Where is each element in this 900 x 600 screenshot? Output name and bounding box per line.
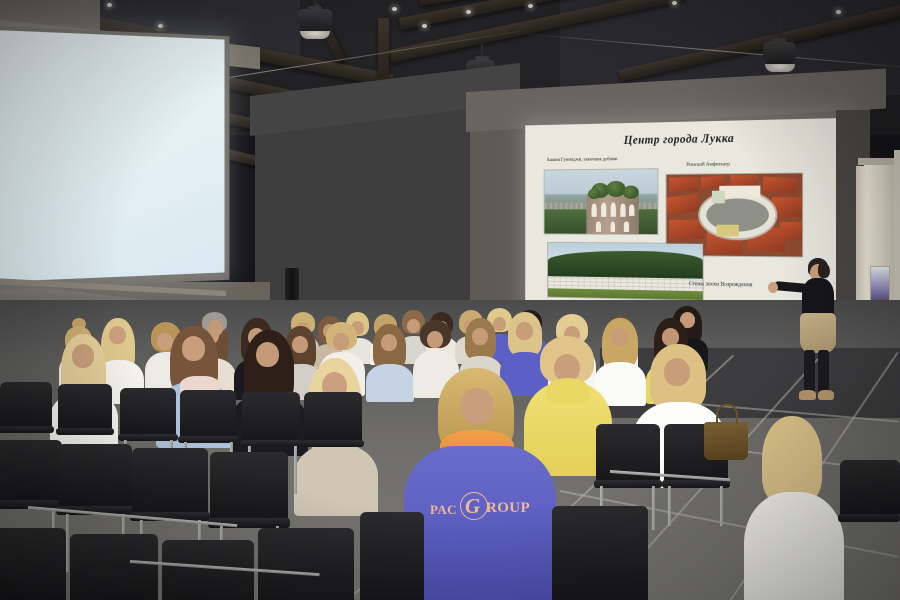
shirt-logo-roup: ROUP: [486, 500, 530, 517]
photo-roof: [772, 197, 803, 217]
chair-backrest: [304, 392, 362, 442]
chair-backrest: [120, 388, 176, 436]
photo-oak-tree: [623, 185, 639, 198]
ceiling-downlight: [422, 24, 427, 28]
audience-head: [427, 331, 443, 348]
ceiling-downlight: [672, 1, 677, 5]
chair-seat: [0, 426, 54, 433]
photo-yellow-building: [717, 225, 739, 237]
ceiling-downlight: [392, 7, 397, 11]
audience-hair: [762, 416, 822, 504]
chair-seat: [302, 440, 364, 447]
chair-leg: [294, 446, 297, 494]
photo-tower-window: [611, 203, 616, 217]
chair-leg: [668, 486, 671, 526]
chair-seat: [178, 436, 238, 443]
presenter-hair-back: [818, 262, 830, 278]
photo-tower-window: [629, 204, 634, 216]
shirt-logo-g: G: [465, 494, 481, 519]
slide-photo-guinigi-tower: [544, 168, 659, 235]
ceiling-downlight: [528, 4, 533, 8]
ceiling-downlight: [836, 10, 841, 14]
audience-head: [72, 344, 94, 368]
presenter-leg: [804, 350, 815, 394]
ceiling-downlight: [158, 24, 163, 28]
photo-white-building: [712, 190, 725, 203]
photo-tower: [587, 194, 639, 234]
pendant-lamp-rod: [779, 4, 781, 40]
photo-white-building: [720, 185, 761, 197]
audience-shoulder: [294, 444, 378, 516]
audience-head: [333, 333, 349, 350]
audience-shirt-purple: [404, 446, 556, 600]
pendant-lamp: [763, 42, 796, 68]
photo-tower-window: [624, 222, 629, 232]
audience-member: [370, 324, 410, 396]
audience-head: [381, 334, 397, 351]
audience-head: [460, 388, 494, 424]
photo-tower-window: [596, 221, 601, 232]
chair-seat: [56, 428, 114, 435]
chair-seat: [838, 514, 900, 522]
photo-tower-window: [620, 204, 625, 218]
left-projection-screen[interactable]: [0, 30, 224, 282]
pendant-lamp: [298, 9, 332, 35]
conference-room-photo: Центр города Лукка Башня Гуиниджи, увенч…: [0, 0, 900, 600]
chair-backrest: [210, 452, 288, 520]
handbag-handle: [716, 404, 738, 424]
presenter-shoe: [799, 390, 816, 400]
chair-backrest: [0, 528, 66, 600]
chair-backrest: [58, 384, 112, 430]
chair-backrest: [552, 506, 648, 600]
audience-head: [664, 358, 690, 386]
chair-backrest: [0, 382, 52, 428]
chair-backrest: [0, 440, 62, 502]
photo-roof: [669, 220, 703, 240]
photo-grass: [548, 288, 703, 300]
slide-caption-tower: Башня Гуиниджи, увенчана дубами: [547, 156, 617, 163]
chair-backrest: [242, 392, 300, 442]
slide-title: Центр города Лукка: [534, 129, 835, 149]
audience-member-pac-group: PAC G ROUP: [408, 368, 554, 600]
chair-backrest: [360, 512, 424, 600]
audience-head: [182, 336, 205, 361]
chair-backrest: [258, 528, 354, 600]
photo-tower-window: [611, 221, 616, 232]
presenter-hand: [768, 282, 778, 293]
presenter: [780, 258, 850, 406]
chair-backrest: [70, 534, 158, 600]
presenter-leg: [818, 350, 829, 394]
chair-leg: [652, 486, 655, 530]
slide-photo-renaissance-walls: [547, 242, 704, 301]
handbag: [704, 422, 748, 460]
photo-tower-window: [601, 203, 606, 217]
pillar-cap: [858, 158, 896, 165]
audience-shoulder: [366, 364, 414, 402]
chair-seat: [118, 434, 178, 441]
audience-head: [256, 342, 279, 367]
chair-leg: [66, 514, 69, 572]
audience-shoulder: [744, 492, 844, 600]
audience-head: [611, 328, 628, 346]
presenter-tunic: [800, 313, 836, 353]
audience-member: [598, 318, 642, 400]
shirt-logo-pac: PAC: [430, 502, 457, 518]
slide-caption-amphitheatre: Римский Амфитеатр: [686, 161, 729, 167]
photo-roof: [763, 177, 797, 193]
audience-head: [472, 328, 488, 345]
chair-backrest: [180, 390, 236, 438]
photo-roof: [780, 222, 803, 240]
audience-member-foreground: [754, 416, 834, 600]
chair-leg: [720, 486, 723, 526]
ceiling-downlight: [466, 10, 471, 14]
photo-tower-window: [592, 204, 597, 217]
chair-backrest: [58, 444, 132, 508]
chair-backrest: [132, 448, 208, 514]
chair-backrest: [840, 460, 900, 516]
presenter-shoe: [818, 390, 834, 400]
ceiling-downlight: [107, 3, 112, 7]
photo-roof: [669, 178, 698, 191]
